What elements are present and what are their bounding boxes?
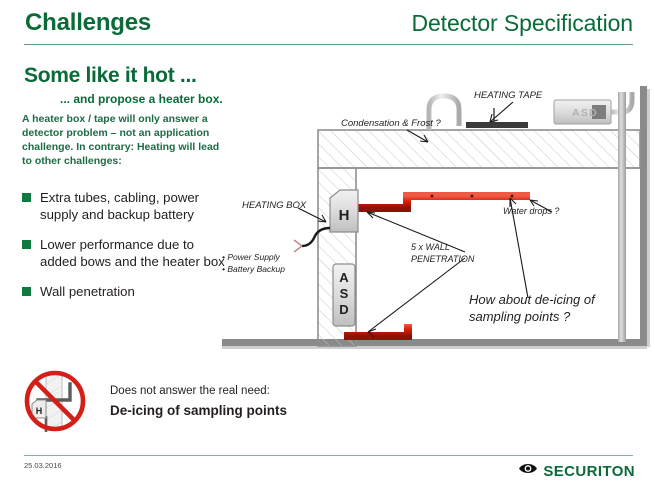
svg-text:S: S (340, 286, 349, 301)
bullet-square-icon (22, 240, 31, 249)
label-heating-box: HEATING BOX (242, 200, 306, 211)
securiton-logo: SECURITON (518, 462, 635, 480)
conclusion-bold: De-icing of sampling points (110, 403, 287, 418)
list-item: Lower performance due to added bows and … (22, 236, 227, 270)
label-power-supply-list: • Power Supply • Battery Backup (222, 252, 285, 275)
detector-installation-diagram: ASD (222, 86, 655, 361)
label-deicing-line2: sampling points ? (469, 309, 570, 324)
heating-tape-element (459, 108, 554, 128)
label-deicing-question: How about de-icing of sampling points ? (469, 291, 595, 325)
challenge-bullet-list: Extra tubes, cabling, power supply and b… (22, 189, 227, 313)
label-wall-penetration-line2: PENETRATION (411, 254, 474, 264)
list-item: Extra tubes, cabling, power supply and b… (22, 189, 227, 223)
list-item-label: Extra tubes, cabling, power supply and b… (40, 189, 227, 223)
footer-date: 25.03.2016 (24, 461, 62, 470)
lead-heading: Some like it hot ... (24, 64, 197, 88)
wall-right-post (618, 92, 626, 342)
ceiling-slab (318, 130, 640, 168)
label-heating-tape: HEATING TAPE (474, 90, 542, 101)
label-wall-penetration-line1: 5 x WALL (411, 242, 450, 252)
list-item: Wall penetration (22, 283, 227, 300)
bullet-square-icon (22, 287, 31, 296)
heating-box-device: H (330, 190, 358, 232)
svg-text:A: A (339, 270, 349, 285)
conclusion-lead: Does not answer the real need: (110, 385, 270, 397)
svg-text:H: H (339, 207, 350, 224)
label-condensation-frost: Condensation & Frost ? (341, 118, 441, 129)
lead-subheading: ... and propose a heater box. (60, 92, 223, 106)
svg-text:D: D (339, 302, 348, 317)
list-item-label: Lower performance due to added bows and … (40, 236, 227, 270)
asd-unit-device: ASD (554, 100, 611, 124)
svg-text:ASD: ASD (572, 107, 598, 119)
page-subtitle: Detector Specification (411, 10, 633, 37)
brand-name: SECURITON (543, 463, 635, 480)
asd-detector-vertical: A S D (333, 264, 355, 326)
list-item-label: Wall penetration (40, 283, 135, 300)
label-battery-backup: • Battery Backup (222, 264, 285, 274)
label-water-drops: Water drops ? (503, 206, 559, 216)
prohibition-symbol-icon: H (24, 370, 86, 432)
bullet-square-icon (22, 193, 31, 202)
page-title: Challenges (25, 9, 151, 37)
slide-root: Challenges Detector Specification Some l… (0, 0, 655, 491)
label-power-supply: • Power Supply (222, 252, 280, 262)
footer-divider (24, 455, 633, 456)
eye-icon (518, 462, 538, 480)
intro-paragraph: A heater box / tape will only answer a d… (22, 112, 222, 168)
svg-text:H: H (36, 406, 43, 416)
label-wall-penetration: 5 x WALL PENETRATION (411, 241, 474, 265)
header-divider (24, 44, 633, 45)
label-deicing-line1: How about de-icing of (469, 292, 595, 307)
